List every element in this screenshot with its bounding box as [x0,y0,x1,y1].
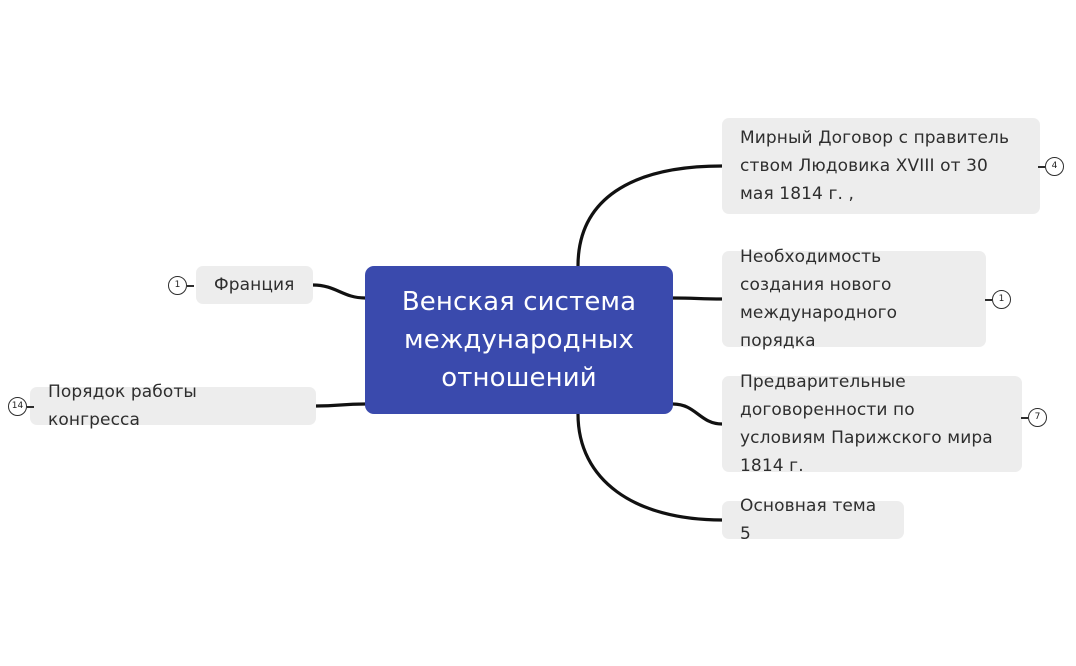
branch-node-mid-right[interactable]: Необходимость создания нового международ… [722,251,986,347]
badge-bottom-left[interactable]: 14 [8,397,27,416]
branch-node-bottom-right[interactable]: Основная тема 5 [722,501,904,539]
connector-to-low-right [673,404,722,424]
badge-low-right[interactable]: 7 [1028,408,1047,427]
branch-label-top-right: Мирный Договор с правитель ством Людовик… [740,124,1022,208]
branch-label-mid-right: Необходимость создания нового международ… [740,243,968,355]
connector-to-mid-right [673,298,722,299]
branch-label-top-left: Франция [214,271,295,299]
branch-node-low-right[interactable]: Предварительные договоренности по услови… [722,376,1022,472]
branch-label-low-right: Предварительные договоренности по услови… [740,368,1004,480]
branch-node-top-left[interactable]: Франция [196,266,313,304]
connector-to-top-left [313,285,365,298]
branch-node-top-right[interactable]: Мирный Договор с правитель ством Людовик… [722,118,1040,214]
mindmap-canvas: Венская система международных отношений … [0,0,1076,666]
connector-to-top-right [578,166,722,266]
central-topic-label: Венская система международных отношений [379,283,659,397]
badge-top-right[interactable]: 4 [1045,157,1064,176]
connector-to-bottom-right [578,414,722,520]
branch-label-bottom-right: Основная тема 5 [740,492,886,548]
branch-label-bottom-left: Порядок работы конгресса [48,378,298,434]
branch-node-bottom-left[interactable]: Порядок работы конгресса [30,387,316,425]
badge-top-left[interactable]: 1 [168,276,187,295]
central-topic-node[interactable]: Венская система международных отношений [365,266,673,414]
connector-to-bottom-left [316,404,365,406]
badge-mid-right[interactable]: 1 [992,290,1011,309]
